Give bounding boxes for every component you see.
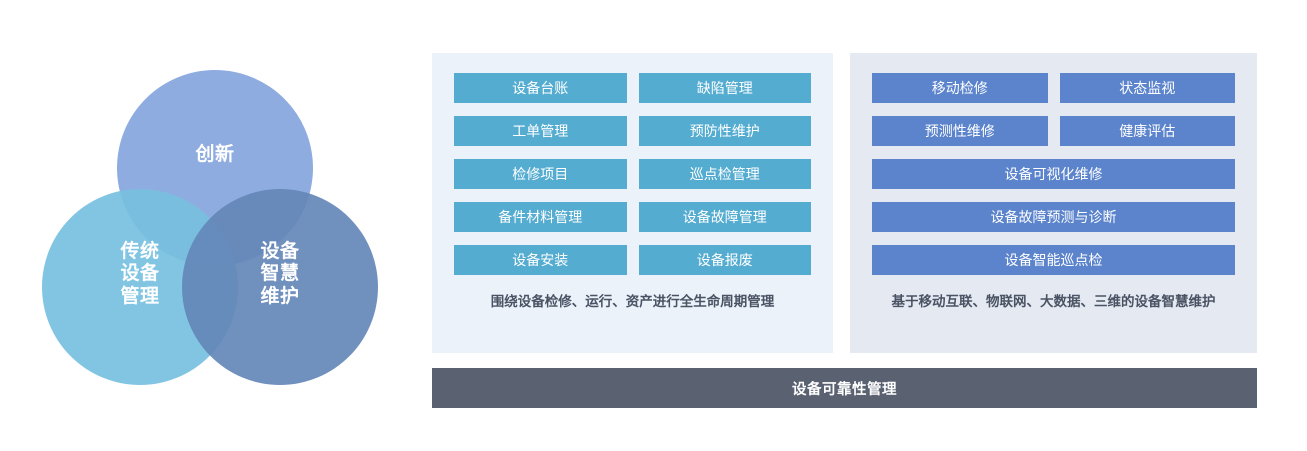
tile-equipment-ledger[interactable]: 设备台账 <box>454 73 627 103</box>
tile-equipment-scrapping[interactable]: 设备报废 <box>639 245 812 275</box>
tile-spare-parts-material-management[interactable]: 备件材料管理 <box>454 202 627 232</box>
tile-health-assessment[interactable]: 健康评估 <box>1060 116 1236 146</box>
tile-equipment-fault-prediction-diagnosis[interactable]: 设备故障预测与诊断 <box>872 202 1235 232</box>
tile-overhaul-project[interactable]: 检修项目 <box>454 159 627 189</box>
tile-preventive-maintenance[interactable]: 预防性维护 <box>639 116 812 146</box>
panel-smart-equipment-maintenance: 移动检修 状态监视 预测性维修 健康评估 设备可视化维修 设备故障预测与诊断 设… <box>850 53 1257 353</box>
venn-label-innovation: 创新 <box>165 144 265 166</box>
capability-panels: 设备台账 缺陷管理 工单管理 预防性维护 检修项目 巡点检管理 备件材料管理 设… <box>432 53 1257 408</box>
tile-mobile-overhaul[interactable]: 移动检修 <box>872 73 1048 103</box>
venn-label-smart-equipment-maintenance: 设备 智慧 维护 <box>237 241 323 308</box>
tile-equipment-installation[interactable]: 设备安装 <box>454 245 627 275</box>
tile-defect-management[interactable]: 缺陷管理 <box>639 73 812 103</box>
bottom-bar-label: 设备可靠性管理 <box>792 378 897 399</box>
tile-grid-traditional: 设备台账 缺陷管理 工单管理 预防性维护 检修项目 巡点检管理 备件材料管理 设… <box>454 73 811 275</box>
venn-diagram: 创新 传统 设备 管理 设备 智慧 维护 <box>0 0 420 451</box>
tile-equipment-intelligent-inspection[interactable]: 设备智能巡点检 <box>872 245 1235 275</box>
tile-predictive-maintenance[interactable]: 预测性维修 <box>872 116 1048 146</box>
bottom-bar-equipment-reliability-management: 设备可靠性管理 <box>432 368 1257 408</box>
panel-traditional-equipment-management: 设备台账 缺陷管理 工单管理 预防性维护 检修项目 巡点检管理 备件材料管理 设… <box>432 53 833 353</box>
tile-equipment-visual-maintenance[interactable]: 设备可视化维修 <box>872 159 1235 189</box>
tile-equipment-fault-management[interactable]: 设备故障管理 <box>639 202 812 232</box>
venn-label-traditional-equipment-management: 传统 设备 管理 <box>97 241 183 308</box>
panel-caption-traditional: 围绕设备检修、运行、资产进行全生命周期管理 <box>454 292 811 313</box>
tile-grid-smart: 移动检修 状态监视 预测性维修 健康评估 设备可视化维修 设备故障预测与诊断 设… <box>872 73 1235 275</box>
tile-work-order-management[interactable]: 工单管理 <box>454 116 627 146</box>
venn-circles-graphic <box>0 0 420 451</box>
tile-inspection-management[interactable]: 巡点检管理 <box>639 159 812 189</box>
tile-condition-monitoring[interactable]: 状态监视 <box>1060 73 1236 103</box>
panel-caption-smart: 基于移动互联、物联网、大数据、三维的设备智慧维护 <box>872 292 1235 313</box>
